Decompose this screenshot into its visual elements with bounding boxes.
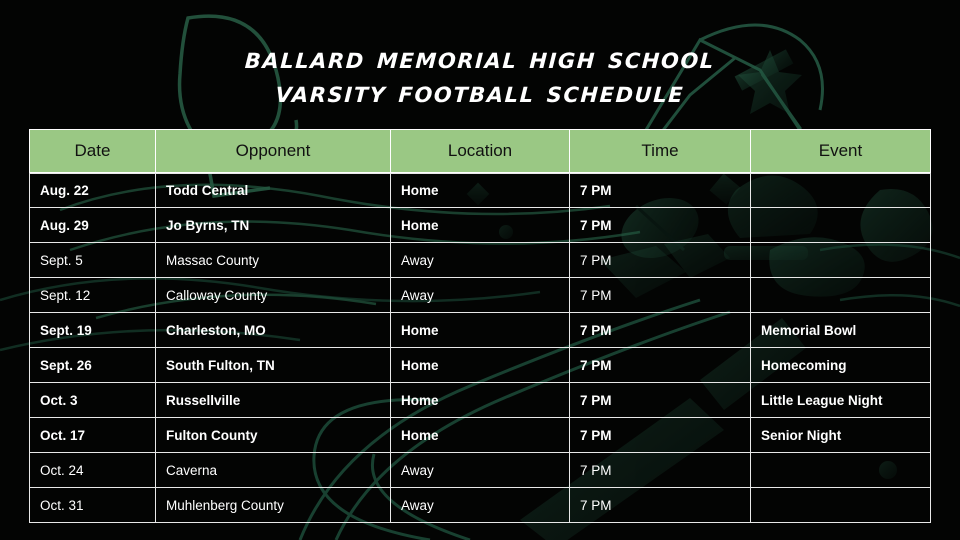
table-row[interactable]: Oct. 3RussellvilleHome7 PMLittle League … (29, 383, 931, 418)
cell-event: Senior Night (750, 418, 931, 453)
cell-event (750, 173, 931, 208)
cell-time: 7 PM (569, 383, 750, 418)
cell-opponent: Todd Central (155, 173, 390, 208)
title-line-1: Ballard Memorial High School (0, 42, 960, 76)
title-line-2: Varsity Football Schedule (0, 76, 960, 110)
cell-event: Little League Night (750, 383, 931, 418)
cell-location: Away (390, 243, 569, 278)
cell-time: 7 PM (569, 278, 750, 313)
table-row[interactable]: Oct. 24CavernaAway7 PM (29, 453, 931, 488)
column-header-date[interactable]: Date (29, 129, 155, 173)
table-body: Aug. 22Todd CentralHome7 PMAug. 29Jo Byr… (29, 173, 931, 523)
table-row[interactable]: Oct. 31Muhlenberg CountyAway7 PM (29, 488, 931, 523)
cell-date: Aug. 22 (29, 173, 155, 208)
schedule-poster: Ballard Memorial High School Varsity Foo… (0, 0, 960, 540)
cell-time: 7 PM (569, 348, 750, 383)
cell-date: Oct. 24 (29, 453, 155, 488)
cell-time: 7 PM (569, 243, 750, 278)
cell-opponent: Massac County (155, 243, 390, 278)
cell-location: Away (390, 453, 569, 488)
cell-date: Sept. 19 (29, 313, 155, 348)
cell-time: 7 PM (569, 173, 750, 208)
cell-time: 7 PM (569, 313, 750, 348)
column-header-opponent[interactable]: Opponent (155, 129, 390, 173)
cell-opponent: Fulton County (155, 418, 390, 453)
cell-opponent: Charleston, MO (155, 313, 390, 348)
cell-event (750, 488, 931, 523)
cell-time: 7 PM (569, 453, 750, 488)
cell-opponent: Caverna (155, 453, 390, 488)
cell-event (750, 208, 931, 243)
cell-date: Oct. 31 (29, 488, 155, 523)
table-header: Date Opponent Location Time Event (29, 129, 931, 173)
table-row[interactable]: Oct. 17Fulton CountyHome7 PMSenior Night (29, 418, 931, 453)
schedule-table: Date Opponent Location Time Event Aug. 2… (29, 129, 931, 523)
cell-location: Home (390, 173, 569, 208)
cell-location: Home (390, 348, 569, 383)
table-row[interactable]: Aug. 29Jo Byrns, TNHome7 PM (29, 208, 931, 243)
cell-date: Oct. 3 (29, 383, 155, 418)
table-header-row: Date Opponent Location Time Event (29, 129, 931, 173)
cell-date: Sept. 12 (29, 278, 155, 313)
cell-opponent: Muhlenberg County (155, 488, 390, 523)
table-row[interactable]: Sept. 12Calloway CountyAway7 PM (29, 278, 931, 313)
cell-opponent: Calloway County (155, 278, 390, 313)
cell-event (750, 278, 931, 313)
cell-date: Sept. 26 (29, 348, 155, 383)
column-header-location[interactable]: Location (390, 129, 569, 173)
cell-time: 7 PM (569, 488, 750, 523)
cell-opponent: South Fulton, TN (155, 348, 390, 383)
cell-event (750, 243, 931, 278)
table-row[interactable]: Sept. 5Massac CountyAway7 PM (29, 243, 931, 278)
cell-event (750, 453, 931, 488)
table-row[interactable]: Aug. 22Todd CentralHome7 PM (29, 173, 931, 208)
column-header-time[interactable]: Time (569, 129, 750, 173)
star-emblem-icon (735, 49, 802, 114)
cell-location: Home (390, 313, 569, 348)
table-row[interactable]: Sept. 26South Fulton, TNHome7 PMHomecomi… (29, 348, 931, 383)
cell-opponent: Russellville (155, 383, 390, 418)
cell-date: Oct. 17 (29, 418, 155, 453)
cell-time: 7 PM (569, 418, 750, 453)
cell-location: Home (390, 418, 569, 453)
cell-event: Homecoming (750, 348, 931, 383)
cell-location: Home (390, 208, 569, 243)
cell-date: Aug. 29 (29, 208, 155, 243)
cell-time: 7 PM (569, 208, 750, 243)
cell-location: Home (390, 383, 569, 418)
cell-event: Memorial Bowl (750, 313, 931, 348)
cell-opponent: Jo Byrns, TN (155, 208, 390, 243)
cell-location: Away (390, 278, 569, 313)
column-header-event[interactable]: Event (750, 129, 931, 173)
cell-location: Away (390, 488, 569, 523)
cell-date: Sept. 5 (29, 243, 155, 278)
table-row[interactable]: Sept. 19Charleston, MOHome7 PMMemorial B… (29, 313, 931, 348)
page-title: Ballard Memorial High School Varsity Foo… (0, 42, 960, 110)
